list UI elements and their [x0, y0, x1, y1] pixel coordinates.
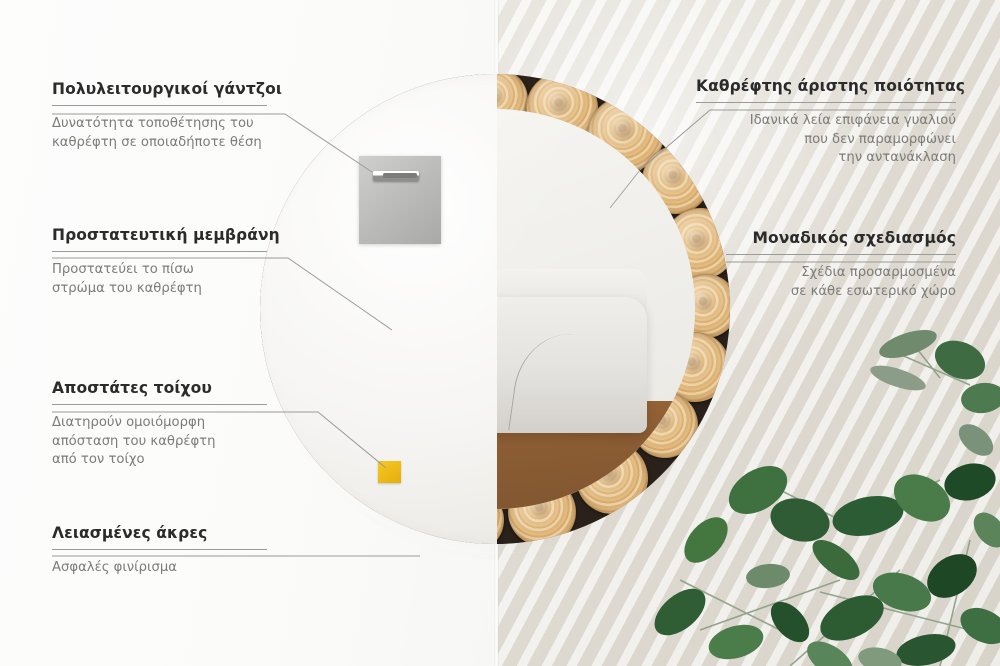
callout-quality-title: Καθρέφτης άριστης ποιότητας — [696, 77, 956, 95]
callout-edges-desc: Ασφαλές φινίρισμα — [52, 559, 267, 578]
callout-hooks-title: Πολυλειτουργικοί γάντζοι — [52, 80, 267, 98]
round-mirror-product — [260, 74, 730, 544]
callout-membrane-desc: Προστατεύει το πίσω στρώμα του καθρέφτη — [52, 261, 267, 298]
callout-spacers-rule — [52, 404, 267, 405]
callout-membrane-title: Προστατευτική μεμβράνη — [52, 226, 267, 244]
hook-slot-inner — [383, 173, 417, 178]
callout-quality-desc: Ιδανικά λεία επιφάνεια γυαλιού που δεν π… — [696, 112, 956, 168]
callout-quality: Καθρέφτης άριστης ποιότητας Ιδανικά λεία… — [696, 77, 956, 168]
wall-spacer — [378, 461, 401, 483]
callout-spacers-title: Αποστάτες τοίχου — [52, 379, 267, 397]
callout-membrane-rule — [52, 251, 267, 252]
callout-spacers-desc: Διατηρούν ομοιόμορφη απόσταση του καθρέφ… — [52, 414, 267, 470]
callout-edges-rule — [52, 549, 267, 550]
callout-quality-rule — [696, 102, 956, 103]
callout-membrane: Προστατευτική μεμβράνη Προστατεύει το πί… — [52, 226, 267, 298]
callout-design-rule — [726, 254, 956, 255]
infographic-canvas: Πολυλειτουργικοί γάντζοι Δυνατότητα τοπο… — [0, 0, 1000, 666]
callout-hooks-rule — [52, 105, 267, 106]
callout-design-desc: Σχέδια προσαρμοσμένα σε κάθε εσωτερικό χ… — [726, 264, 956, 301]
callout-design: Μοναδικός σχεδιασμός Σχέδια προσαρμοσμέν… — [726, 229, 956, 301]
callout-edges: Λειασμένες άκρες Ασφαλές φινίρισμα — [52, 524, 267, 578]
callout-hooks-desc: Δυνατότητα τοποθέτησης του καθρέφτη σε ο… — [52, 115, 267, 152]
callout-edges-title: Λειασμένες άκρες — [52, 524, 267, 542]
mounting-hook-plate — [359, 156, 441, 244]
callout-spacers: Αποστάτες τοίχου Διατηρούν ομοιόμορφη απ… — [52, 379, 267, 470]
callout-design-title: Μοναδικός σχεδιασμός — [726, 229, 956, 247]
callout-hooks: Πολυλειτουργικοί γάντζοι Δυνατότητα τοπο… — [52, 80, 267, 152]
